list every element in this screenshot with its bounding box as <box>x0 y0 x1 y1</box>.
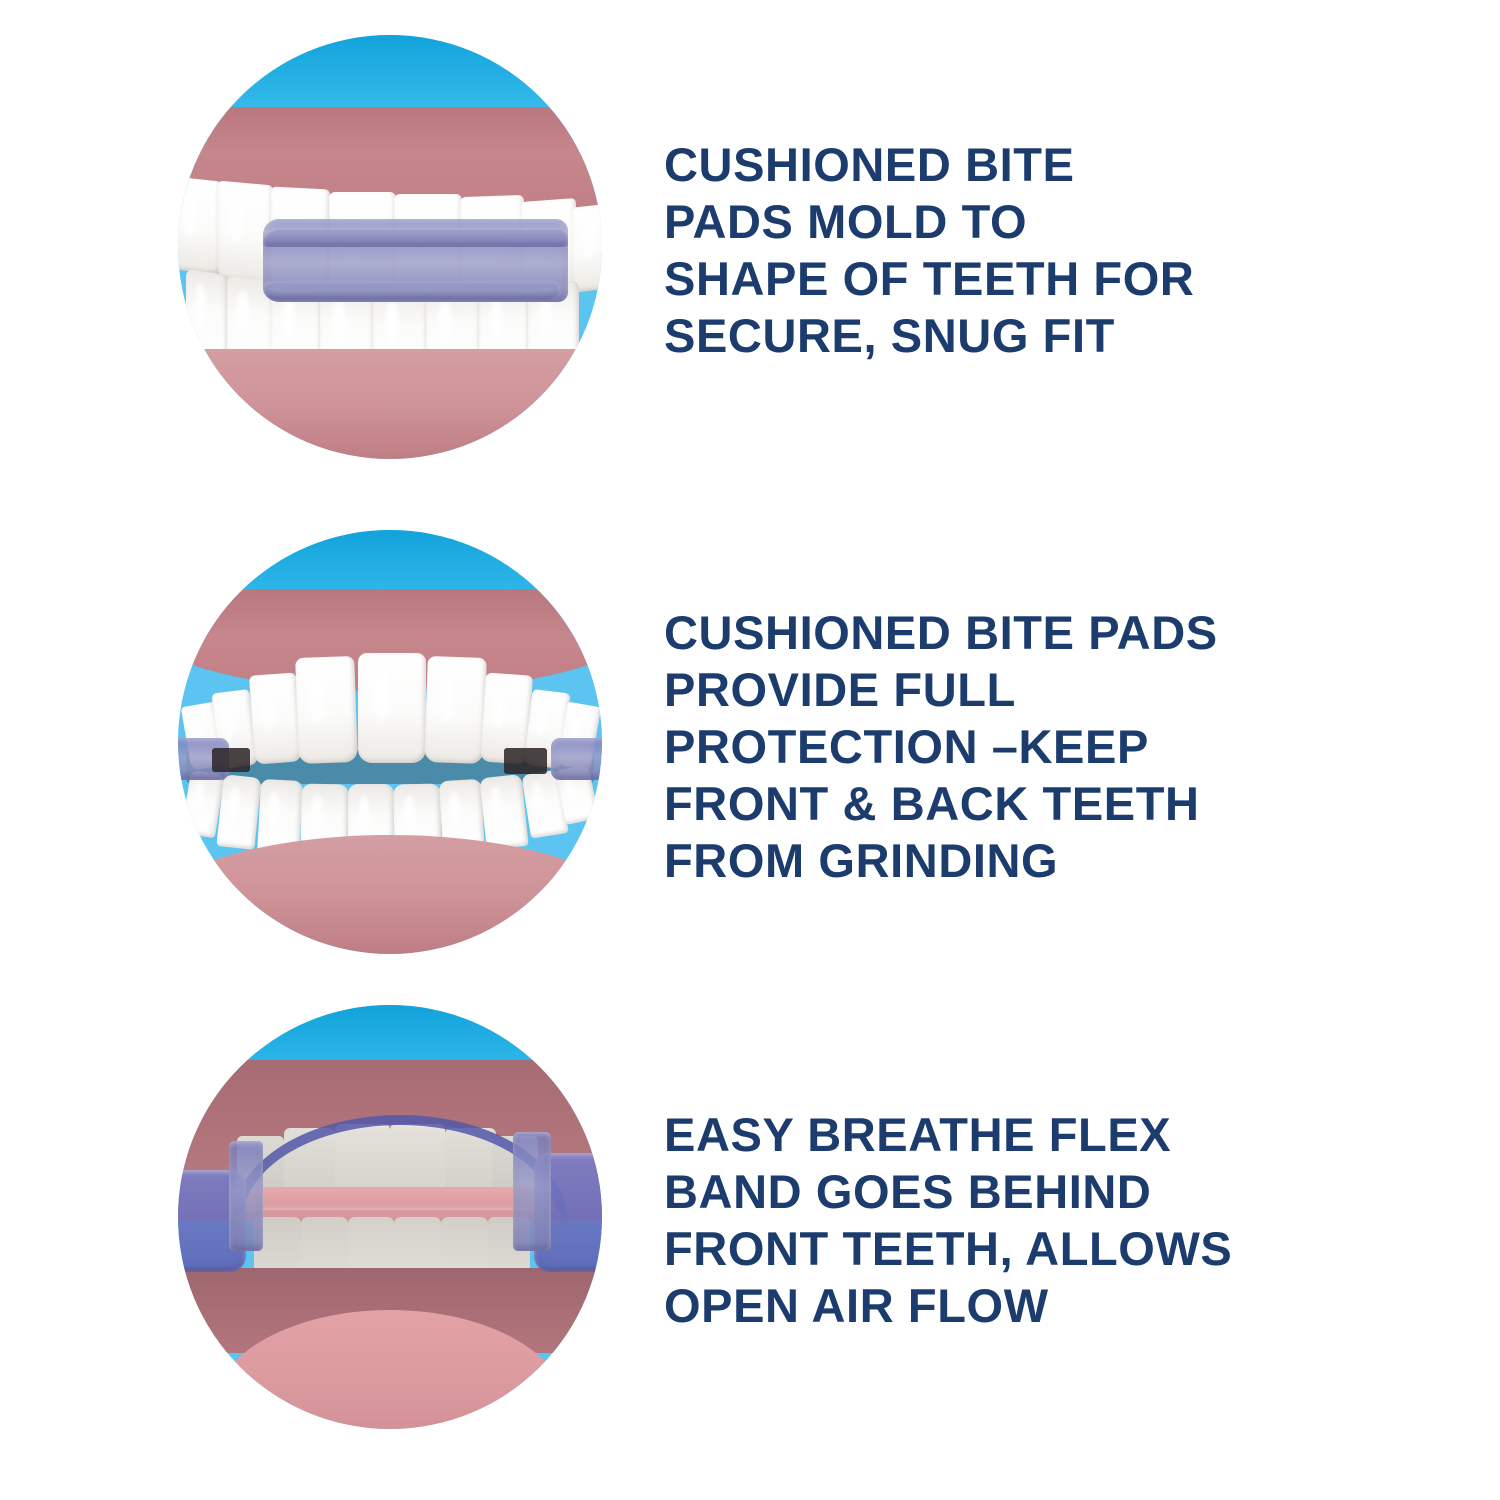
mouthguard-bite-pad <box>263 219 568 247</box>
lower-tooth <box>217 774 262 850</box>
easy-breathe-flex-band-behind-front-teeth-icon <box>178 1005 602 1429</box>
mouthguard-connector-right <box>513 1132 551 1251</box>
lower-gum <box>178 349 602 459</box>
feature-3-headline: EASY BREATHE FLEX BAND GOES BEHIND FRONT… <box>664 1106 1232 1334</box>
mouthguard-connector-left <box>229 1141 263 1251</box>
feature-2-headline: CUSHIONED BITE PADS PROVIDE FULL PROTECT… <box>664 604 1218 889</box>
feature-1-headline: CUSHIONED BITE PADS MOLD TO SHAPE OF TEE… <box>664 136 1194 364</box>
mouthguard-bite-pad-right <box>551 738 602 780</box>
feature-row-2: CUSHIONED BITE PADS PROVIDE FULL PROTECT… <box>0 507 1500 977</box>
back-molar-gap-left <box>212 748 250 771</box>
mouthguard-on-upper-teeth-side-view-icon <box>178 35 602 459</box>
product-feature-infographic: CUSHIONED BITE PADS MOLD TO SHAPE OF TEE… <box>0 0 1500 1500</box>
feature-row-3: EASY BREATHE FLEX BAND GOES BEHIND FRONT… <box>0 982 1500 1452</box>
upper-tooth <box>358 653 426 763</box>
feature-row-1: CUSHIONED BITE PADS MOLD TO SHAPE OF TEE… <box>0 12 1500 482</box>
upper-tooth <box>424 656 487 764</box>
lower-gum <box>178 835 602 954</box>
illustration-1-wrap <box>178 35 602 459</box>
back-molar-gap-right <box>504 748 546 773</box>
mouthguard-flex-band <box>263 281 560 300</box>
illustration-3-wrap <box>178 1005 602 1429</box>
upper-tooth <box>572 202 602 292</box>
illustration-2-wrap <box>178 530 602 954</box>
upper-tooth <box>249 673 302 765</box>
upper-tooth <box>178 177 220 275</box>
upper-tooth <box>295 656 358 764</box>
front-and-back-teeth-protection-front-view-icon <box>178 530 602 954</box>
